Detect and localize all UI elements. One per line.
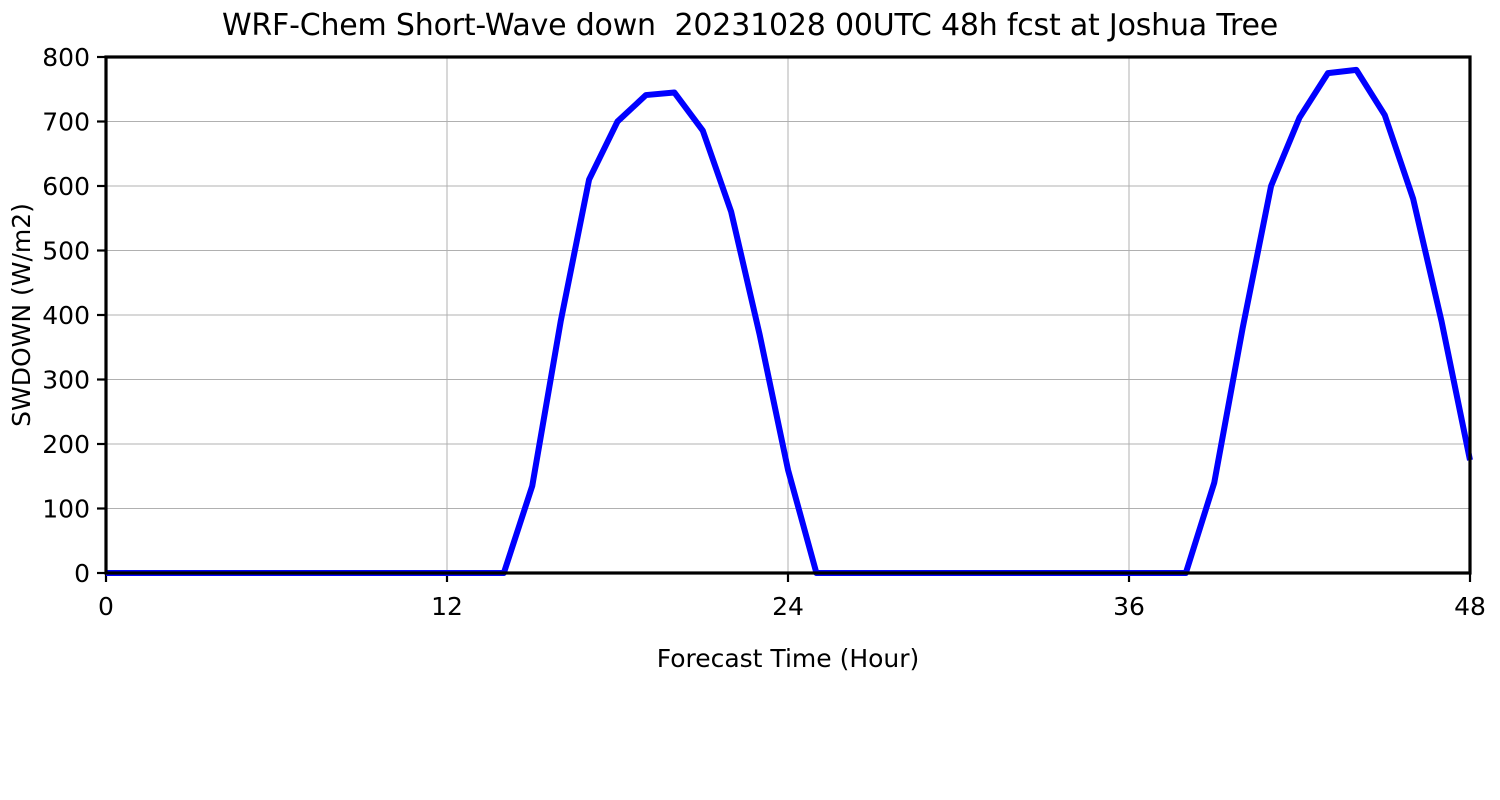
x-tick-label: 48 (1454, 592, 1486, 621)
x-tick-label: 0 (98, 592, 114, 621)
tick-labels-group: 0100200300400500600700800012243648 (42, 43, 1486, 621)
y-tick-label: 200 (42, 430, 90, 459)
chart-figure: WRF-Chem Short-Wave down 20231028 00UTC … (0, 0, 1500, 800)
tickmarks-group (97, 57, 1470, 582)
y-tick-label: 300 (42, 366, 90, 395)
x-axis-label: Forecast Time (Hour) (657, 644, 920, 673)
y-tick-label: 0 (74, 559, 90, 588)
x-tick-label: 36 (1113, 592, 1145, 621)
y-tick-label: 600 (42, 172, 90, 201)
plot-area-svg: 0100200300400500600700800012243648 Forec… (0, 0, 1500, 800)
y-axis-label: SWDOWN (W/m2) (7, 203, 36, 427)
x-tick-label: 24 (772, 592, 804, 621)
y-tick-label: 400 (42, 301, 90, 330)
y-tick-label: 500 (42, 237, 90, 266)
x-tick-label: 12 (431, 592, 463, 621)
y-tick-label: 100 (42, 495, 90, 524)
gridlines-group (106, 57, 1470, 573)
y-tick-label: 700 (42, 108, 90, 137)
y-tick-label: 800 (42, 43, 90, 72)
